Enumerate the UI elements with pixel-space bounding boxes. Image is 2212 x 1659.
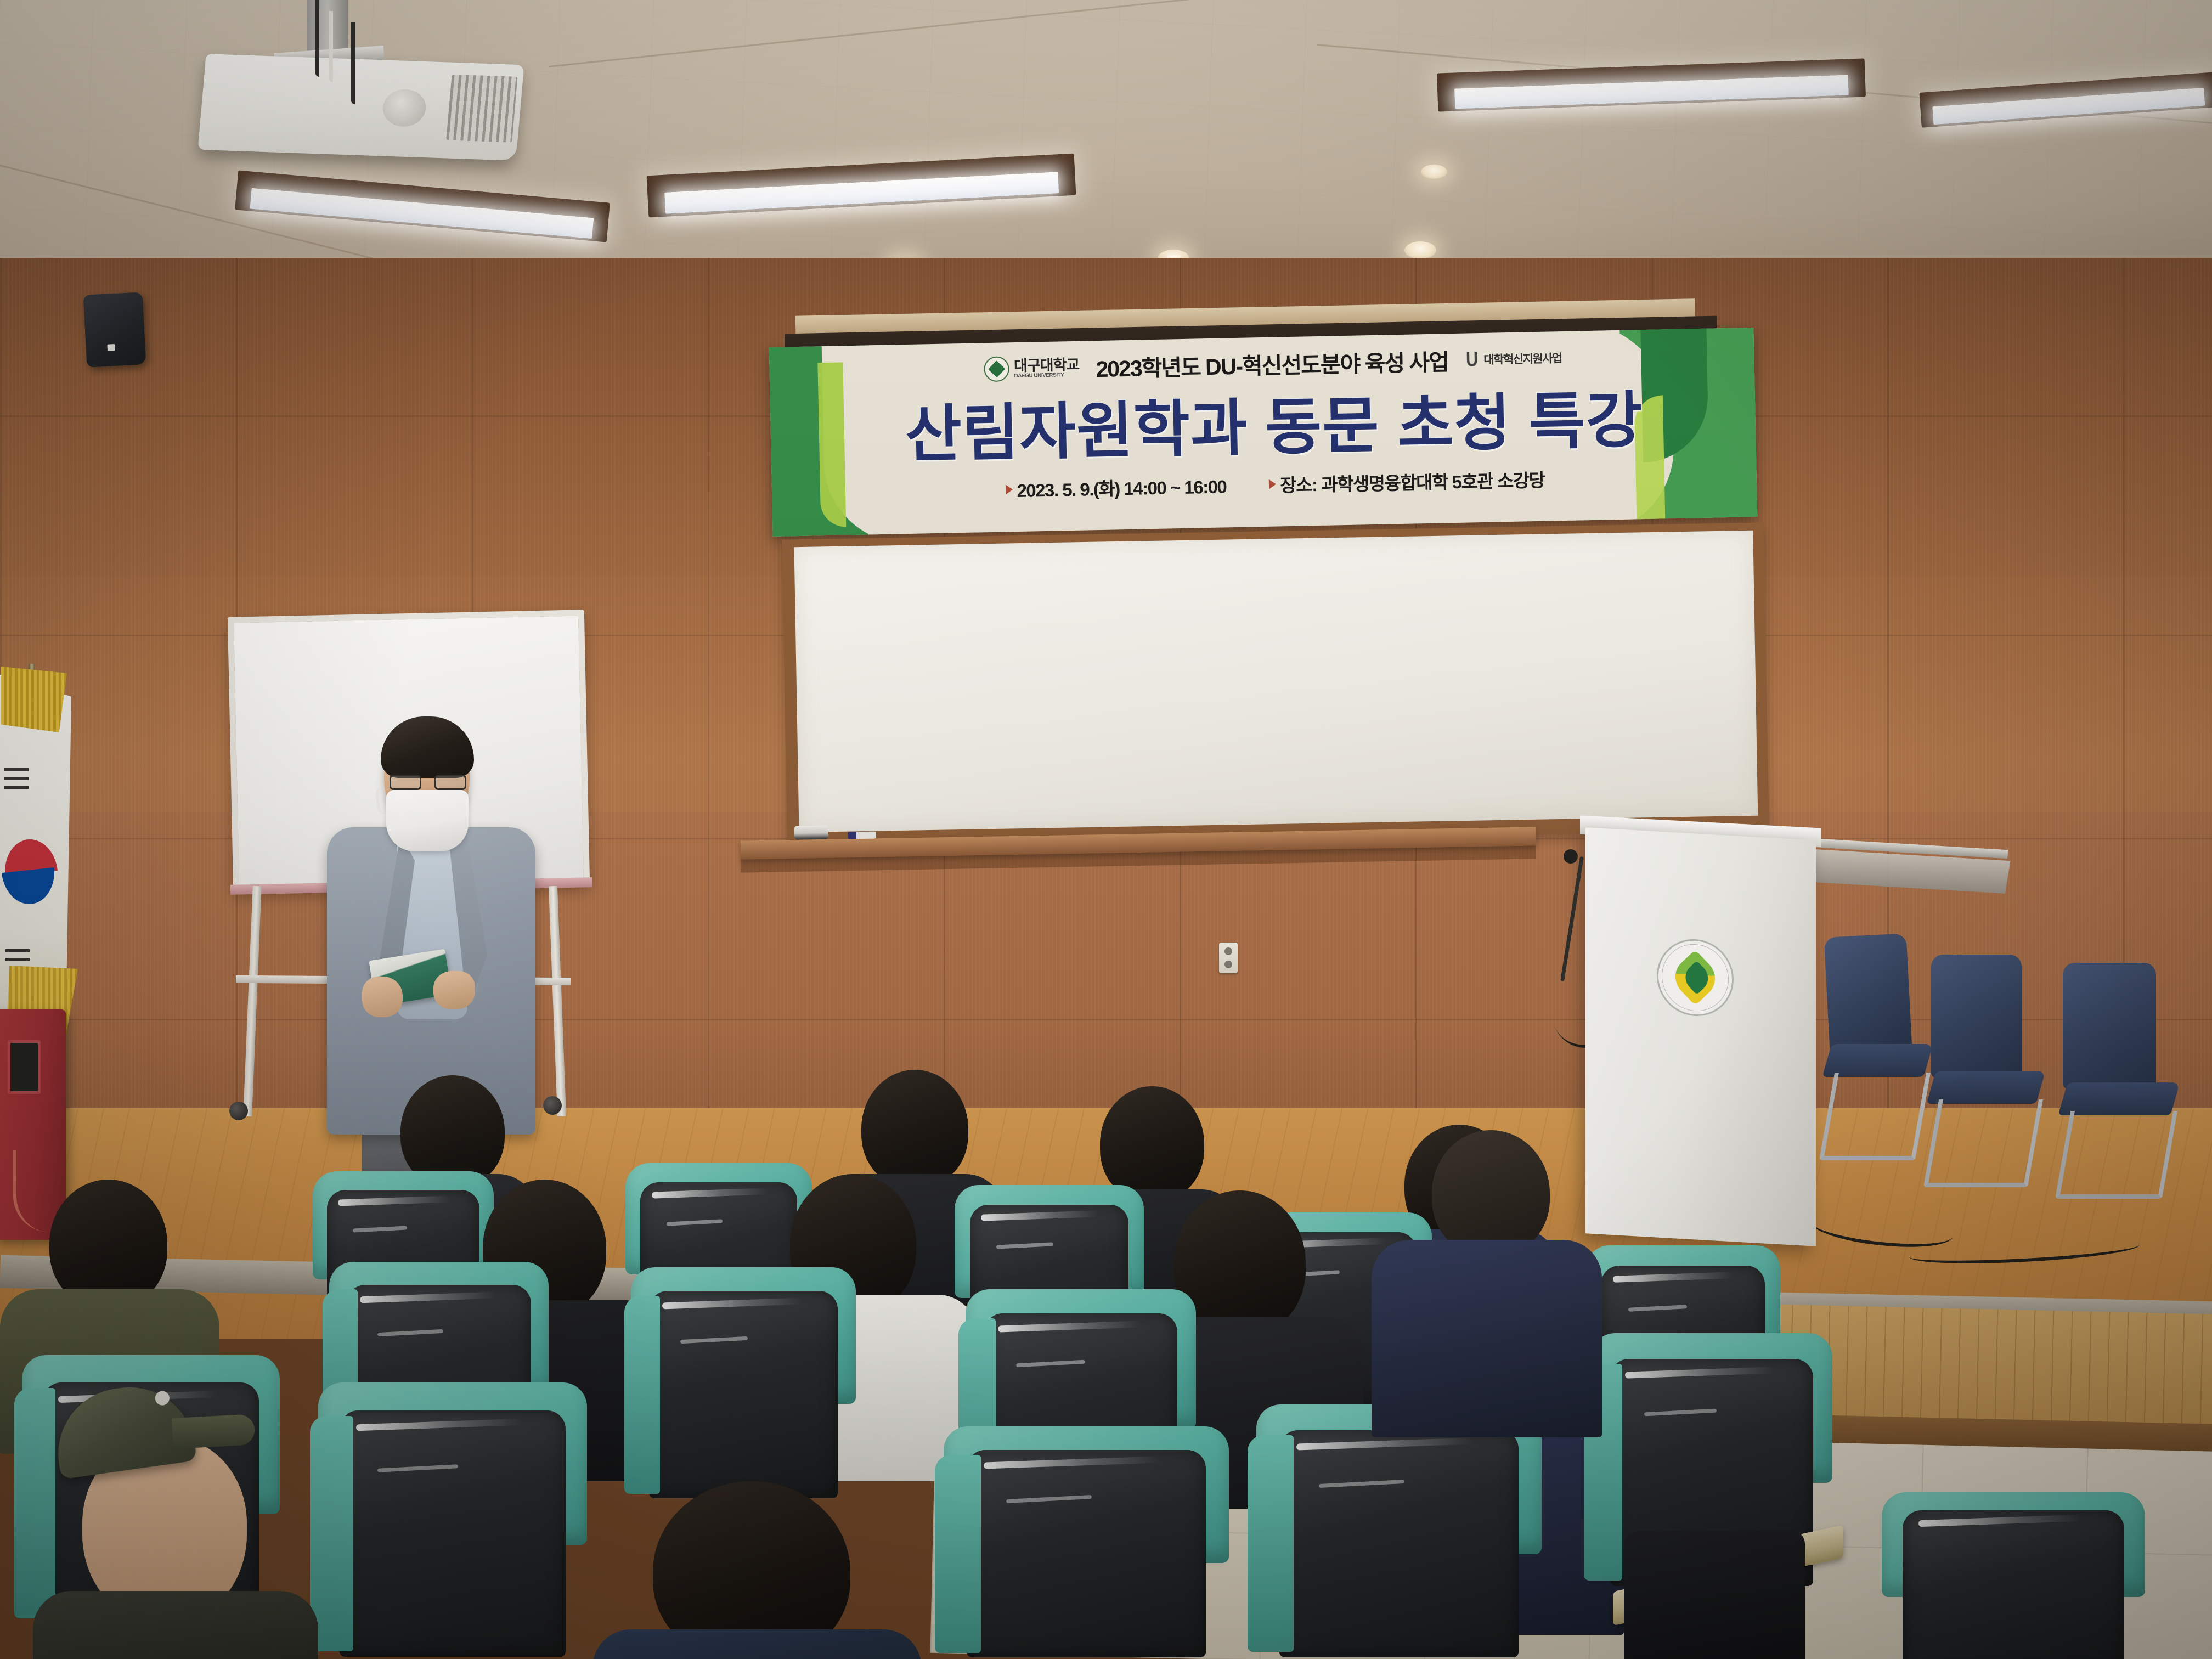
power-outlet[interactable] [1219, 943, 1238, 973]
taeguk-blue-half-icon [2, 867, 58, 907]
red-cabinet [0, 1009, 66, 1240]
whiteboard-caster [543, 1096, 562, 1115]
auditorium-photo-scene: 대구대학교 DAEGU UNIVERSITY 2023학년도 DU-혁신선도분야… [0, 0, 2212, 1659]
whiteboard-caster [229, 1102, 248, 1120]
university-innovation-logo: U 대학혁신지원사업 [1465, 349, 1562, 369]
backpack [1624, 1531, 1805, 1659]
projector-cable [315, 0, 319, 77]
audience-seat[interactable] [318, 1383, 587, 1659]
flag-fringe [1, 667, 67, 732]
du-logo-english: DAEGU UNIVERSITY [1014, 372, 1079, 379]
audience-head [861, 1070, 968, 1188]
audience-seat[interactable] [1256, 1404, 1542, 1659]
trigram-bar-icon [4, 786, 29, 789]
audience-shoulders [592, 1629, 922, 1659]
cabinet-window [8, 1040, 41, 1094]
microphone-head-icon [1564, 849, 1578, 864]
audience-shoulders [33, 1591, 318, 1659]
presenter-glasses-icon [387, 775, 469, 791]
marker-pen[interactable] [848, 832, 876, 839]
uisp-u-mark-icon: U [1466, 351, 1479, 369]
audience-seat[interactable] [1882, 1492, 2145, 1659]
bullet-triangle-icon [1269, 479, 1276, 489]
wall-speaker-icon [83, 292, 146, 367]
cap-brim [172, 1414, 256, 1449]
daegu-university-mark-icon [984, 356, 1009, 382]
audience-shoulders [1372, 1240, 1602, 1437]
projector-vent [446, 75, 517, 143]
banner-title: 산림자원학과 동문 초청 특강 [904, 370, 1644, 474]
projector-cable [351, 22, 355, 104]
presenter-hand [433, 971, 475, 1009]
bullet-triangle-icon [1006, 484, 1013, 494]
daegu-university-logo: 대구대학교 DAEGU UNIVERSITY [984, 355, 1080, 382]
podium [1585, 827, 1816, 1246]
whiteboard-eraser[interactable] [794, 825, 828, 839]
du-logo-korean: 대구대학교 [1014, 357, 1080, 373]
ceiling-downlight [1421, 165, 1447, 179]
audience-seat[interactable] [631, 1267, 856, 1503]
ceiling-projector [198, 54, 524, 161]
ceiling-downlight [1404, 241, 1436, 259]
projector-lens [381, 88, 427, 127]
presenter-hand [362, 977, 403, 1017]
banner-venue-item: 장소: 과학생명융합대학 5호관 소강당 [1269, 466, 1545, 498]
projection-screen-surface [794, 531, 1758, 832]
presenter-face-mask [386, 790, 469, 851]
audience-head [1432, 1130, 1550, 1256]
banner-datetime: 2023. 5. 9.(화) 14:00 ~ 16:00 [1017, 472, 1227, 503]
event-banner: 대구대학교 DAEGU UNIVERSITY 2023학년도 DU-혁신선도분야… [769, 328, 1758, 537]
audience-head [1100, 1086, 1204, 1201]
trigram-bar-icon [5, 958, 30, 961]
projector-cable [329, 11, 333, 82]
projection-screen-frame [782, 522, 1769, 847]
trigram-bar-icon [4, 768, 29, 771]
banner-meta-row: 2023. 5. 9.(화) 14:00 ~ 16:00 장소: 과학생명융합대… [1006, 466, 1545, 503]
audience-seat[interactable] [944, 1426, 1229, 1659]
cabinet-scroll-ornament-icon [13, 1150, 49, 1232]
trigram-bar-icon [5, 949, 30, 952]
trigram-bar-icon [4, 777, 29, 780]
banner-datetime-item: 2023. 5. 9.(화) 14:00 ~ 16:00 [1006, 472, 1227, 503]
uisp-label: 대학혁신지원사업 [1483, 349, 1562, 368]
banner-venue: 장소: 과학생명융합대학 5호관 소강당 [1280, 466, 1545, 498]
